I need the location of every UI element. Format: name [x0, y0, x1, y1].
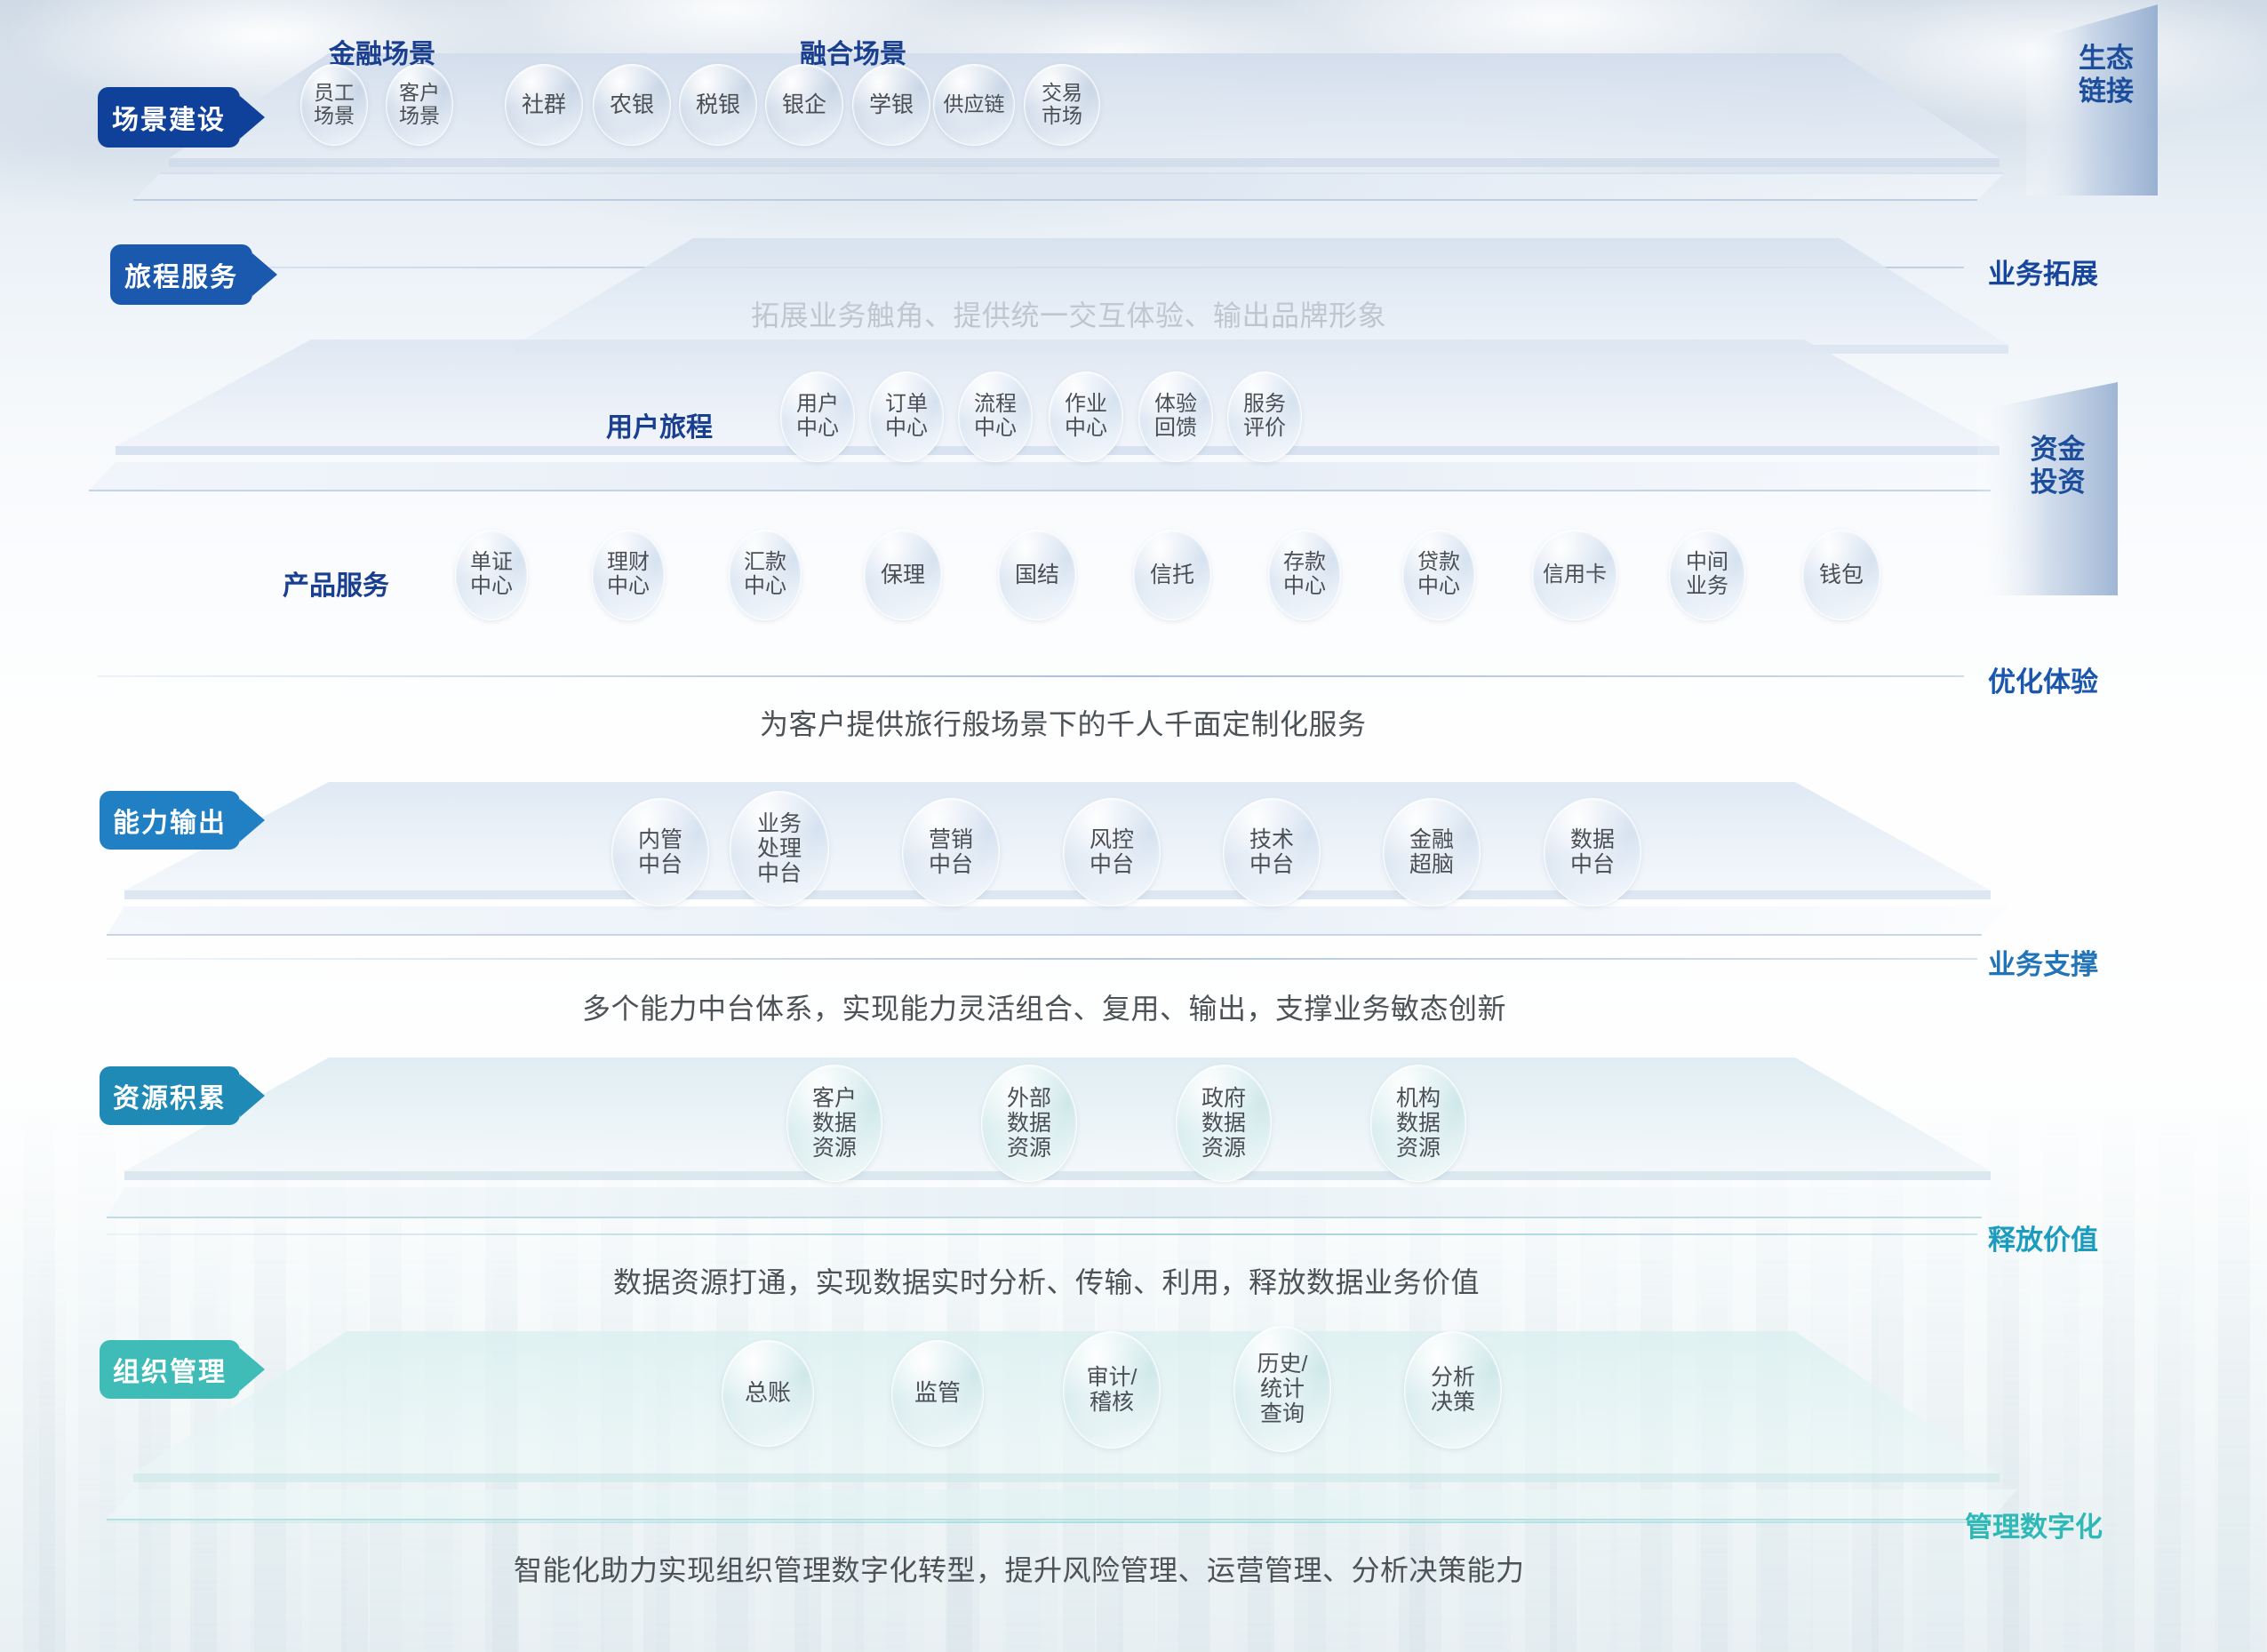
node-label: 银企	[782, 92, 826, 117]
node-experience-feedback[interactable]: 体验 回馈	[1138, 371, 1213, 462]
stage-tag-label: 场景建设	[112, 98, 226, 137]
node-label: 学银	[869, 92, 914, 117]
node-label: 保理	[881, 563, 925, 587]
node-business-processing-midend[interactable]: 业务 处理 中台	[730, 791, 829, 906]
node-label: 数据 中台	[1570, 827, 1615, 877]
node-general-ledger[interactable]: 总账	[722, 1340, 814, 1447]
node-label: 客户 场景	[399, 82, 440, 128]
node-intermediate-business[interactable]: 中间 业务	[1669, 530, 1745, 620]
node-label: 信用卡	[1543, 563, 1607, 587]
city-skyline-backdrop-far	[0, 1243, 2267, 1652]
node-label: 历史/ 统计 查询	[1257, 1352, 1308, 1426]
node-community[interactable]: 社群	[505, 64, 583, 146]
node-wallet[interactable]: 钱包	[1802, 530, 1880, 620]
outcome-label-optimize-experience: 优化体验	[1988, 659, 2098, 699]
stage-tag-label: 旅程服务	[124, 255, 238, 294]
caption-row-5: 智能化助力实现组织管理数字化转型，提升风险管理、运营管理、分析决策能力	[514, 1548, 1525, 1589]
diagram-canvas: 场景建设 金融场景 融合场景 员工 场景 客户 场景 社群 农银 税银 银企 学…	[0, 0, 2267, 1652]
divider-row-4	[107, 1233, 1977, 1235]
node-wealth-center[interactable]: 理财 中心	[592, 530, 665, 620]
node-label: 服务 评价	[1243, 393, 1286, 441]
node-label: 中间 业务	[1686, 551, 1728, 599]
outcome-label-business-support: 业务支撑	[1988, 942, 2098, 982]
outcome-label-management-digitalization: 管理数字化	[1965, 1504, 2103, 1544]
node-label: 审计/ 稽核	[1087, 1365, 1137, 1415]
node-label: 机构 数据 资源	[1396, 1086, 1441, 1161]
stage-tag-row-2[interactable]: 旅程服务	[110, 244, 252, 305]
node-data-midend[interactable]: 数据 中台	[1544, 798, 1641, 906]
node-employee-scenario[interactable]: 员工 场景	[300, 64, 368, 146]
divider-row-1	[133, 267, 1964, 268]
node-label: 存款 中心	[1283, 551, 1326, 599]
stage-tag-row-1[interactable]: 场景建设	[98, 87, 240, 148]
node-label: 流程 中心	[974, 393, 1017, 441]
node-school-bank[interactable]: 学银	[852, 64, 930, 146]
node-document-center[interactable]: 单证 中心	[455, 530, 528, 620]
node-label: 技术 中台	[1249, 827, 1294, 877]
node-label: 订单 中心	[885, 393, 928, 441]
node-history-statistics-query[interactable]: 历史/ 统计 查询	[1233, 1326, 1331, 1452]
node-label: 风控 中台	[1090, 827, 1134, 877]
node-label: 作业 中心	[1065, 393, 1107, 441]
caption-row-2: 为客户提供旅行般场景下的千人千面定制化服务	[760, 702, 1367, 743]
node-label: 交易 市场	[1042, 82, 1082, 128]
node-label: 外部 数据 资源	[1007, 1086, 1051, 1161]
node-service-rating[interactable]: 服务 评价	[1227, 371, 1302, 462]
node-label: 监管	[914, 1380, 961, 1406]
node-label: 业务 处理 中台	[757, 811, 802, 886]
node-deposit-center[interactable]: 存款 中心	[1268, 530, 1341, 620]
node-international-settlement[interactable]: 国结	[998, 530, 1076, 620]
node-agri-bank[interactable]: 农银	[593, 64, 671, 146]
node-risk-control-midend[interactable]: 风控 中台	[1063, 798, 1161, 906]
node-label: 体验 回馈	[1154, 393, 1197, 441]
node-label: 员工 场景	[314, 82, 355, 128]
node-label: 农银	[610, 92, 654, 117]
node-internal-mgmt-midend[interactable]: 内管 中台	[611, 798, 709, 906]
node-remittance-center[interactable]: 汇款 中心	[729, 530, 802, 620]
node-label: 理财 中心	[607, 551, 650, 599]
node-loan-center[interactable]: 贷款 中心	[1402, 530, 1475, 620]
divider-row-3	[107, 958, 1977, 960]
outcome-label-business-expansion: 业务拓展	[1988, 251, 2098, 291]
node-marketing-midend[interactable]: 营销 中台	[902, 798, 1000, 906]
node-label: 国结	[1015, 563, 1059, 587]
node-supply-chain[interactable]: 供应链	[933, 64, 1015, 146]
node-order-center[interactable]: 订单 中心	[869, 371, 944, 462]
node-label: 营销 中台	[929, 827, 973, 877]
node-label: 总账	[745, 1380, 791, 1406]
caption-row-4: 数据资源打通，实现数据实时分析、传输、利用，释放数据业务价值	[613, 1260, 1480, 1301]
node-label: 客户 数据 资源	[812, 1086, 857, 1161]
node-analysis-decision[interactable]: 分析 决策	[1404, 1331, 1502, 1448]
stage-tag-row-3[interactable]: 能力输出	[100, 791, 240, 850]
ribbon-label-ecosystem-link: 生态 链接	[2057, 43, 2155, 108]
node-trading-market[interactable]: 交易 市场	[1024, 64, 1100, 146]
node-customer-data-resource[interactable]: 客户 数据 资源	[786, 1065, 882, 1182]
stage-tag-label: 能力输出	[113, 801, 227, 840]
node-label: 税银	[696, 92, 740, 117]
node-label: 汇款 中心	[744, 551, 786, 599]
stage-tag-row-5[interactable]: 组织管理	[100, 1340, 240, 1399]
node-label: 信托	[1150, 563, 1194, 587]
node-financial-brain[interactable]: 金融 超脑	[1383, 798, 1481, 906]
stage-tag-row-4[interactable]: 资源积累	[100, 1066, 240, 1125]
node-label: 政府 数据 资源	[1201, 1086, 1246, 1161]
node-process-center[interactable]: 流程 中心	[958, 371, 1033, 462]
node-external-data-resource[interactable]: 外部 数据 资源	[981, 1065, 1077, 1182]
caption-row-3: 多个能力中台体系，实现能力灵活组合、复用、输出，支撑业务敏态创新	[582, 986, 1506, 1027]
node-label: 钱包	[1819, 563, 1864, 587]
stage-tag-label: 资源积累	[113, 1076, 227, 1115]
node-credit-card[interactable]: 信用卡	[1532, 530, 1617, 620]
node-label: 金融 超脑	[1409, 827, 1454, 877]
group-heading-product-services: 产品服务	[283, 563, 389, 603]
node-technology-midend[interactable]: 技术 中台	[1223, 798, 1321, 906]
group-heading-user-journey: 用户旅程	[606, 405, 713, 444]
node-bank-enterprise[interactable]: 银企	[765, 64, 843, 146]
node-label: 供应链	[944, 93, 1005, 116]
outcome-label-release-value: 释放价值	[1988, 1217, 2098, 1257]
node-audit-verification[interactable]: 审计/ 稽核	[1063, 1331, 1161, 1448]
node-government-data-resource[interactable]: 政府 数据 资源	[1176, 1065, 1272, 1182]
node-label: 社群	[522, 92, 566, 117]
node-user-center[interactable]: 用户 中心	[780, 371, 855, 462]
node-tax-bank[interactable]: 税银	[679, 64, 757, 146]
platform-row-3	[107, 782, 2017, 995]
node-customer-scenario[interactable]: 客户 场景	[386, 64, 453, 146]
stage-tag-label: 组织管理	[113, 1350, 227, 1389]
divider-row-5	[107, 1521, 1991, 1523]
node-label: 用户 中心	[796, 393, 839, 441]
node-operations-center[interactable]: 作业 中心	[1049, 371, 1123, 462]
node-trust[interactable]: 信托	[1133, 530, 1211, 620]
node-label: 内管 中台	[638, 827, 682, 877]
ribbon-label-capital-investment: 资金 投资	[2007, 434, 2109, 499]
node-factoring[interactable]: 保理	[864, 530, 942, 620]
node-institution-data-resource[interactable]: 机构 数据 资源	[1370, 1065, 1466, 1182]
node-label: 贷款 中心	[1417, 551, 1460, 599]
node-supervision[interactable]: 监管	[891, 1340, 984, 1447]
divider-row-2	[98, 675, 1964, 677]
caption-row-1: 拓展业务触角、提供统一交互体验、输出品牌形象	[751, 293, 1386, 334]
node-label: 单证 中心	[470, 551, 513, 599]
node-label: 分析 决策	[1431, 1365, 1475, 1415]
